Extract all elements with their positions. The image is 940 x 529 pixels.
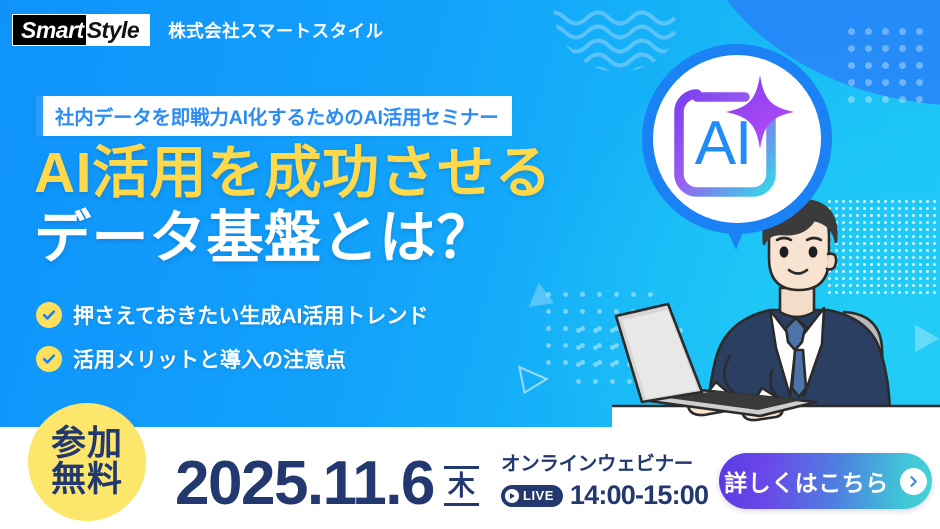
event-date: 2025.11.6 木: [175, 453, 479, 515]
title-line-2: データ基盤とは？: [34, 208, 552, 268]
check-circle-icon: [36, 346, 62, 372]
smartstyle-logo: Smart Style: [12, 14, 150, 46]
title-line-1: AI活用を成功させる: [34, 143, 552, 203]
free-badge-line-1: 参加: [51, 426, 123, 462]
bullet-list: 押さえておきたい生成AI活用トレンド 活用メリットと導入の注意点: [36, 300, 428, 388]
header: Smart Style 株式会社スマートスタイル: [12, 14, 384, 46]
bullet-label: 活用メリットと導入の注意点: [73, 344, 346, 374]
list-item: 押さえておきたい生成AI活用トレンド: [36, 300, 428, 330]
webinar-info: オンラインウェビナー LIVE 14:00-15:00: [501, 447, 708, 511]
webinar-banner: Smart Style 株式会社スマートスタイル 社内データを即戦力AI化するた…: [0, 0, 940, 529]
time-row: LIVE 14:00-15:00: [501, 480, 708, 511]
cta-label: 詳しくはこちら: [724, 464, 889, 498]
free-participation-badge: 参加 無料: [28, 403, 146, 521]
bullet-label: 押さえておきたい生成AI活用トレンド: [73, 300, 428, 330]
live-label: LIVE: [523, 488, 554, 503]
triangle-shape-1: [529, 283, 559, 315]
chevron-right-icon: [900, 468, 927, 495]
time-range: 14:00-15:00: [570, 480, 708, 511]
logo-text-smart: Smart: [13, 15, 86, 45]
play-icon: [505, 489, 519, 503]
triangle-outline-2: [516, 362, 550, 396]
page-title: AI活用を成功させる データ基盤とは？: [34, 143, 552, 268]
list-item: 活用メリットと導入の注意点: [36, 344, 428, 374]
check-circle-icon: [36, 302, 62, 328]
details-cta-button[interactable]: 詳しくはこちら: [719, 453, 932, 509]
seminar-subtitle: 社内データを即戦力AI化するためのAI活用セミナー: [36, 96, 512, 136]
footer-bar: 参加 無料 2025.11.6 木 オンラインウェビナー LIVE 14:00-…: [0, 427, 940, 529]
live-badge: LIVE: [501, 485, 563, 507]
logo-text-style: Style: [86, 15, 149, 45]
date-text: 2025.11.6: [175, 453, 434, 515]
svg-text:AI: AI: [695, 109, 752, 178]
ai-badge-bubble: AI: [640, 42, 836, 272]
webinar-format-label: オンラインウェビナー: [501, 447, 708, 476]
free-badge-line-2: 無料: [51, 462, 123, 498]
company-name: 株式会社スマートスタイル: [168, 18, 383, 43]
day-of-week-badge: 木: [444, 466, 479, 506]
